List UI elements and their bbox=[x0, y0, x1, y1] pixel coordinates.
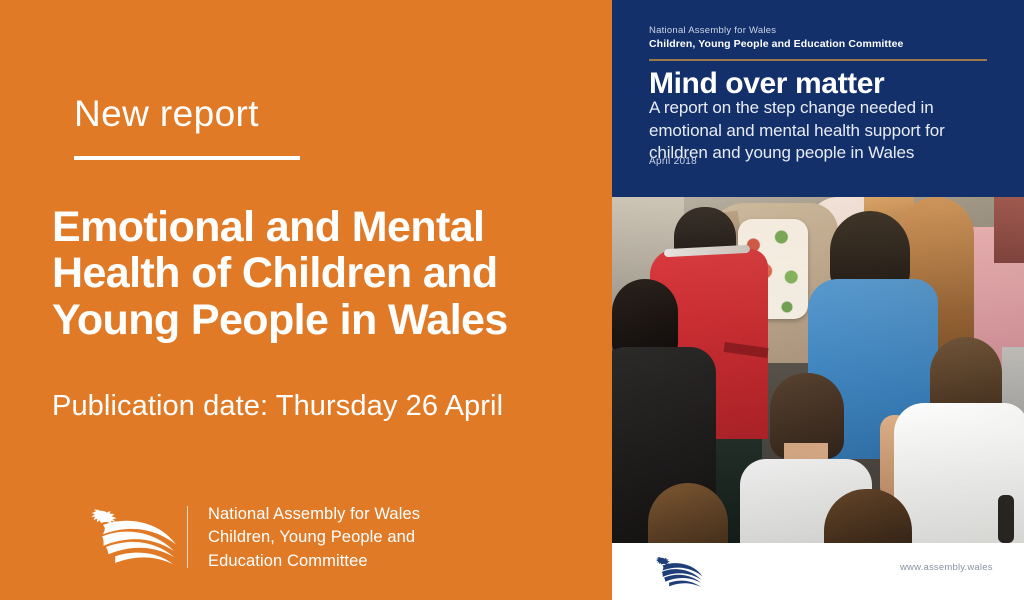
promo-panel: New report Emotional and Mental Health o… bbox=[0, 0, 612, 600]
report-cover-image: National Assembly for Wales Children, Yo… bbox=[612, 0, 1024, 600]
eyebrow-label: New report bbox=[74, 95, 259, 132]
cover-photograph bbox=[612, 197, 1024, 543]
cover-subtitle-line-2: emotional and mental health support for bbox=[649, 120, 994, 143]
committee-name-line-3: Education Committee bbox=[208, 550, 528, 573]
cover-date: April 2018 bbox=[649, 156, 697, 167]
eyebrow-rule bbox=[74, 156, 300, 160]
report-promo-card: New report Emotional and Mental Health o… bbox=[0, 0, 1024, 600]
cover-organisation: National Assembly for Wales bbox=[649, 25, 776, 36]
publication-date: Publication date: Thursday 26 April bbox=[52, 390, 503, 423]
welsh-dragon-logo-icon bbox=[70, 504, 182, 566]
cover-subtitle: A report on the step change needed in em… bbox=[649, 97, 994, 165]
cover-committee: Children, Young People and Education Com… bbox=[649, 38, 903, 50]
cover-header: National Assembly for Wales Children, Yo… bbox=[612, 0, 1024, 197]
photo-light-overlay bbox=[612, 197, 1024, 543]
welsh-dragon-logo-icon bbox=[644, 554, 706, 588]
cover-subtitle-line-3: children and young people in Wales bbox=[649, 142, 994, 165]
committee-name-line-2: Children, Young People and bbox=[208, 526, 528, 549]
cover-website-url: www.assembly.wales bbox=[900, 562, 993, 573]
page-title: Emotional and Mental Health of Children … bbox=[52, 204, 597, 343]
page-title-line-1: Emotional and Mental bbox=[52, 204, 597, 250]
cover-gold-rule bbox=[649, 59, 987, 61]
lockup-divider bbox=[187, 506, 188, 568]
cover-title: Mind over matter bbox=[649, 68, 884, 100]
committee-name: National Assembly for Wales Children, Yo… bbox=[208, 503, 528, 573]
cover-footer: www.assembly.wales bbox=[612, 543, 1024, 600]
page-title-line-2: Health of Children and bbox=[52, 250, 597, 296]
committee-name-line-1: National Assembly for Wales bbox=[208, 503, 528, 526]
committee-lockup: National Assembly for Wales Children, Yo… bbox=[70, 500, 530, 580]
page-title-line-3: Young People in Wales bbox=[52, 297, 597, 343]
cover-subtitle-line-1: A report on the step change needed in bbox=[649, 97, 994, 120]
